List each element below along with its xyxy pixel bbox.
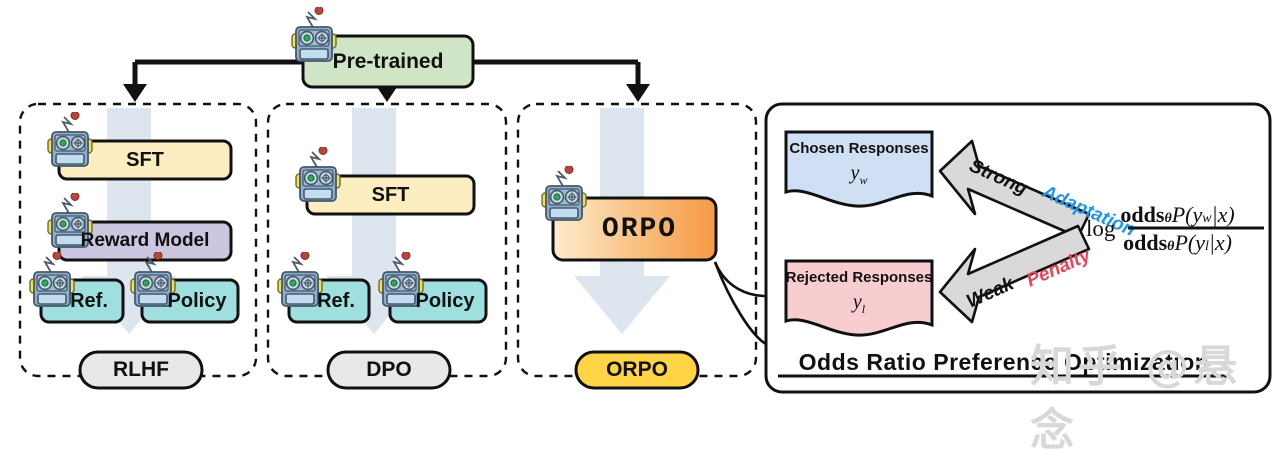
chosen-symbol-sub: w: [859, 173, 867, 187]
pill-label-dpo: DPO: [328, 352, 450, 388]
formula-num-p: P(y: [1172, 202, 1203, 227]
rejected-responses-symbol: yl: [786, 291, 932, 317]
rejected-symbol-base: y: [853, 291, 862, 313]
rejected-responses-title: Rejected Responses: [784, 265, 934, 289]
root-box-label: Pre-trained: [303, 36, 473, 87]
chosen-responses-title: Chosen Responses: [786, 136, 932, 160]
chosen-responses-symbol: yw: [786, 162, 932, 188]
stage-label-dpo-ref: Ref.: [303, 280, 369, 322]
stage-label-rlhf-sft: SFT: [59, 141, 231, 179]
formula-den-tail: |x): [1209, 230, 1232, 255]
odds-ratio-formula: log oddsθP(yw|x) oddsθP(yl|x): [1086, 184, 1276, 274]
stage-label-rlhf-policy: Policy: [156, 280, 238, 322]
stage-label-rlhf-reward-model: Reward Model: [59, 222, 231, 260]
stage-label-orpo-main: ORPO: [563, 198, 716, 260]
rejected-symbol-sub: l: [862, 302, 865, 316]
formula-num-theta: θ: [1164, 211, 1171, 226]
panel-caption: Odds Ratio Preference Optimization: [778, 348, 1230, 376]
formula-den-p: P(y: [1174, 230, 1205, 255]
formula-num-odds: odds: [1120, 202, 1164, 227]
formula-numerator: oddsθP(yw|x): [1120, 201, 1234, 229]
formula-num-tail: |x): [1212, 202, 1235, 227]
formula-denominator: oddsθP(yl|x): [1123, 229, 1232, 257]
stage-label-rlhf-ref: Ref.: [55, 280, 123, 322]
stage-label-dpo-sft: SFT: [307, 176, 474, 214]
orpo-to-panel-connector: [715, 262, 766, 344]
stage-label-dpo-policy: Policy: [404, 280, 486, 322]
formula-den-odds: odds: [1123, 230, 1167, 255]
formula-log: log: [1086, 216, 1115, 242]
pill-label-orpo: ORPO: [576, 352, 698, 388]
formula-num-sub: w: [1202, 211, 1211, 226]
pill-label-rlhf: RLHF: [80, 352, 202, 388]
diagram-canvas: Strong Adaptation Weak Penalty Pre-train…: [0, 0, 1280, 403]
